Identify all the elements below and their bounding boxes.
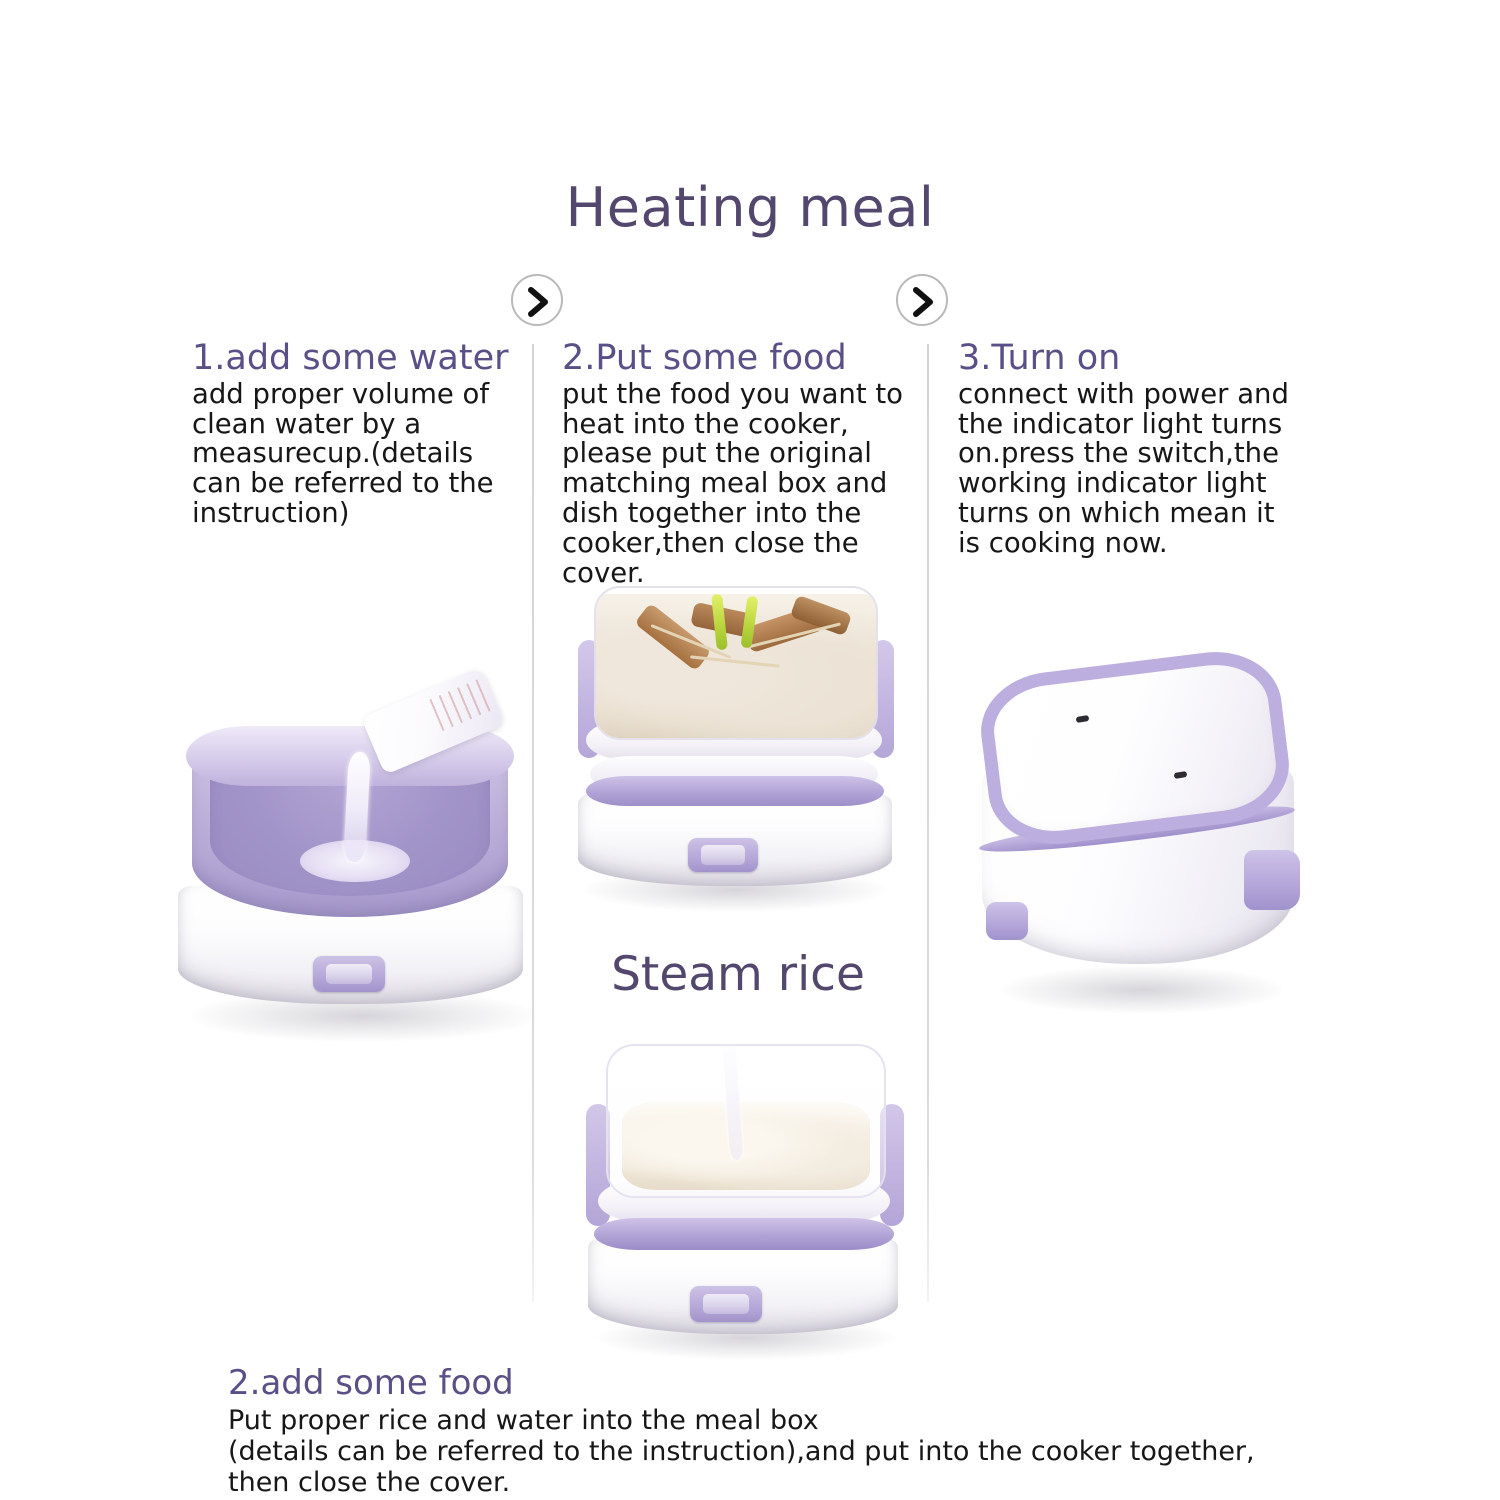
side-latch-left	[986, 902, 1028, 940]
product-photo-add-water	[168, 690, 568, 1050]
lavender-band	[594, 1218, 894, 1250]
step-2-heading: 2.Put some food	[562, 340, 914, 378]
chevron-right-icon-2	[896, 274, 948, 326]
step-column-1: 1.add some water add proper volume of cl…	[192, 340, 512, 529]
side-latch-right	[1244, 850, 1300, 910]
power-switch	[688, 838, 758, 872]
step-column-2: 2.Put some food put the food you want to…	[562, 340, 914, 589]
lavender-band	[586, 776, 884, 806]
section-title-steam-rice: Steam rice	[562, 947, 914, 1002]
clear-food-tray	[594, 586, 878, 740]
step-1-heading: 1.add some water	[192, 340, 512, 378]
step-2-body: put the food you want to heat into the c…	[562, 380, 914, 589]
column-divider-2	[927, 344, 929, 1302]
step-3-heading: 3.Turn on	[958, 340, 1298, 378]
rice-bed	[622, 1102, 870, 1190]
page-title: Heating meal	[0, 176, 1500, 239]
chevron-right-icon-1	[511, 274, 563, 326]
clear-rice-tray	[606, 1044, 886, 1198]
power-switch	[690, 1286, 762, 1322]
step-1-body: add proper volume of clean water by a me…	[192, 380, 512, 529]
step-column-3: 3.Turn on connect with power and the ind…	[958, 340, 1298, 559]
step-3-body: connect with power and the indicator lig…	[958, 380, 1298, 559]
bottom-step-line-1: Put proper rice and water into the meal …	[228, 1405, 1348, 1436]
bottom-step-block: 2.add some food Put proper rice and wate…	[228, 1365, 1348, 1499]
infographic-page: Heating meal 1.add some water add proper…	[0, 0, 1500, 1500]
bottom-step-line-3: then close the cover.	[228, 1467, 1348, 1498]
power-switch	[313, 956, 385, 992]
product-photo-steam-rice	[570, 1030, 920, 1370]
product-photo-put-food	[560, 580, 912, 920]
bottom-step-line-2: (details can be referred to the instruct…	[228, 1436, 1348, 1467]
product-shadow	[1000, 966, 1285, 1014]
bottom-step-heading: 2.add some food	[228, 1365, 1348, 1402]
product-photo-closed-box	[960, 650, 1320, 1030]
